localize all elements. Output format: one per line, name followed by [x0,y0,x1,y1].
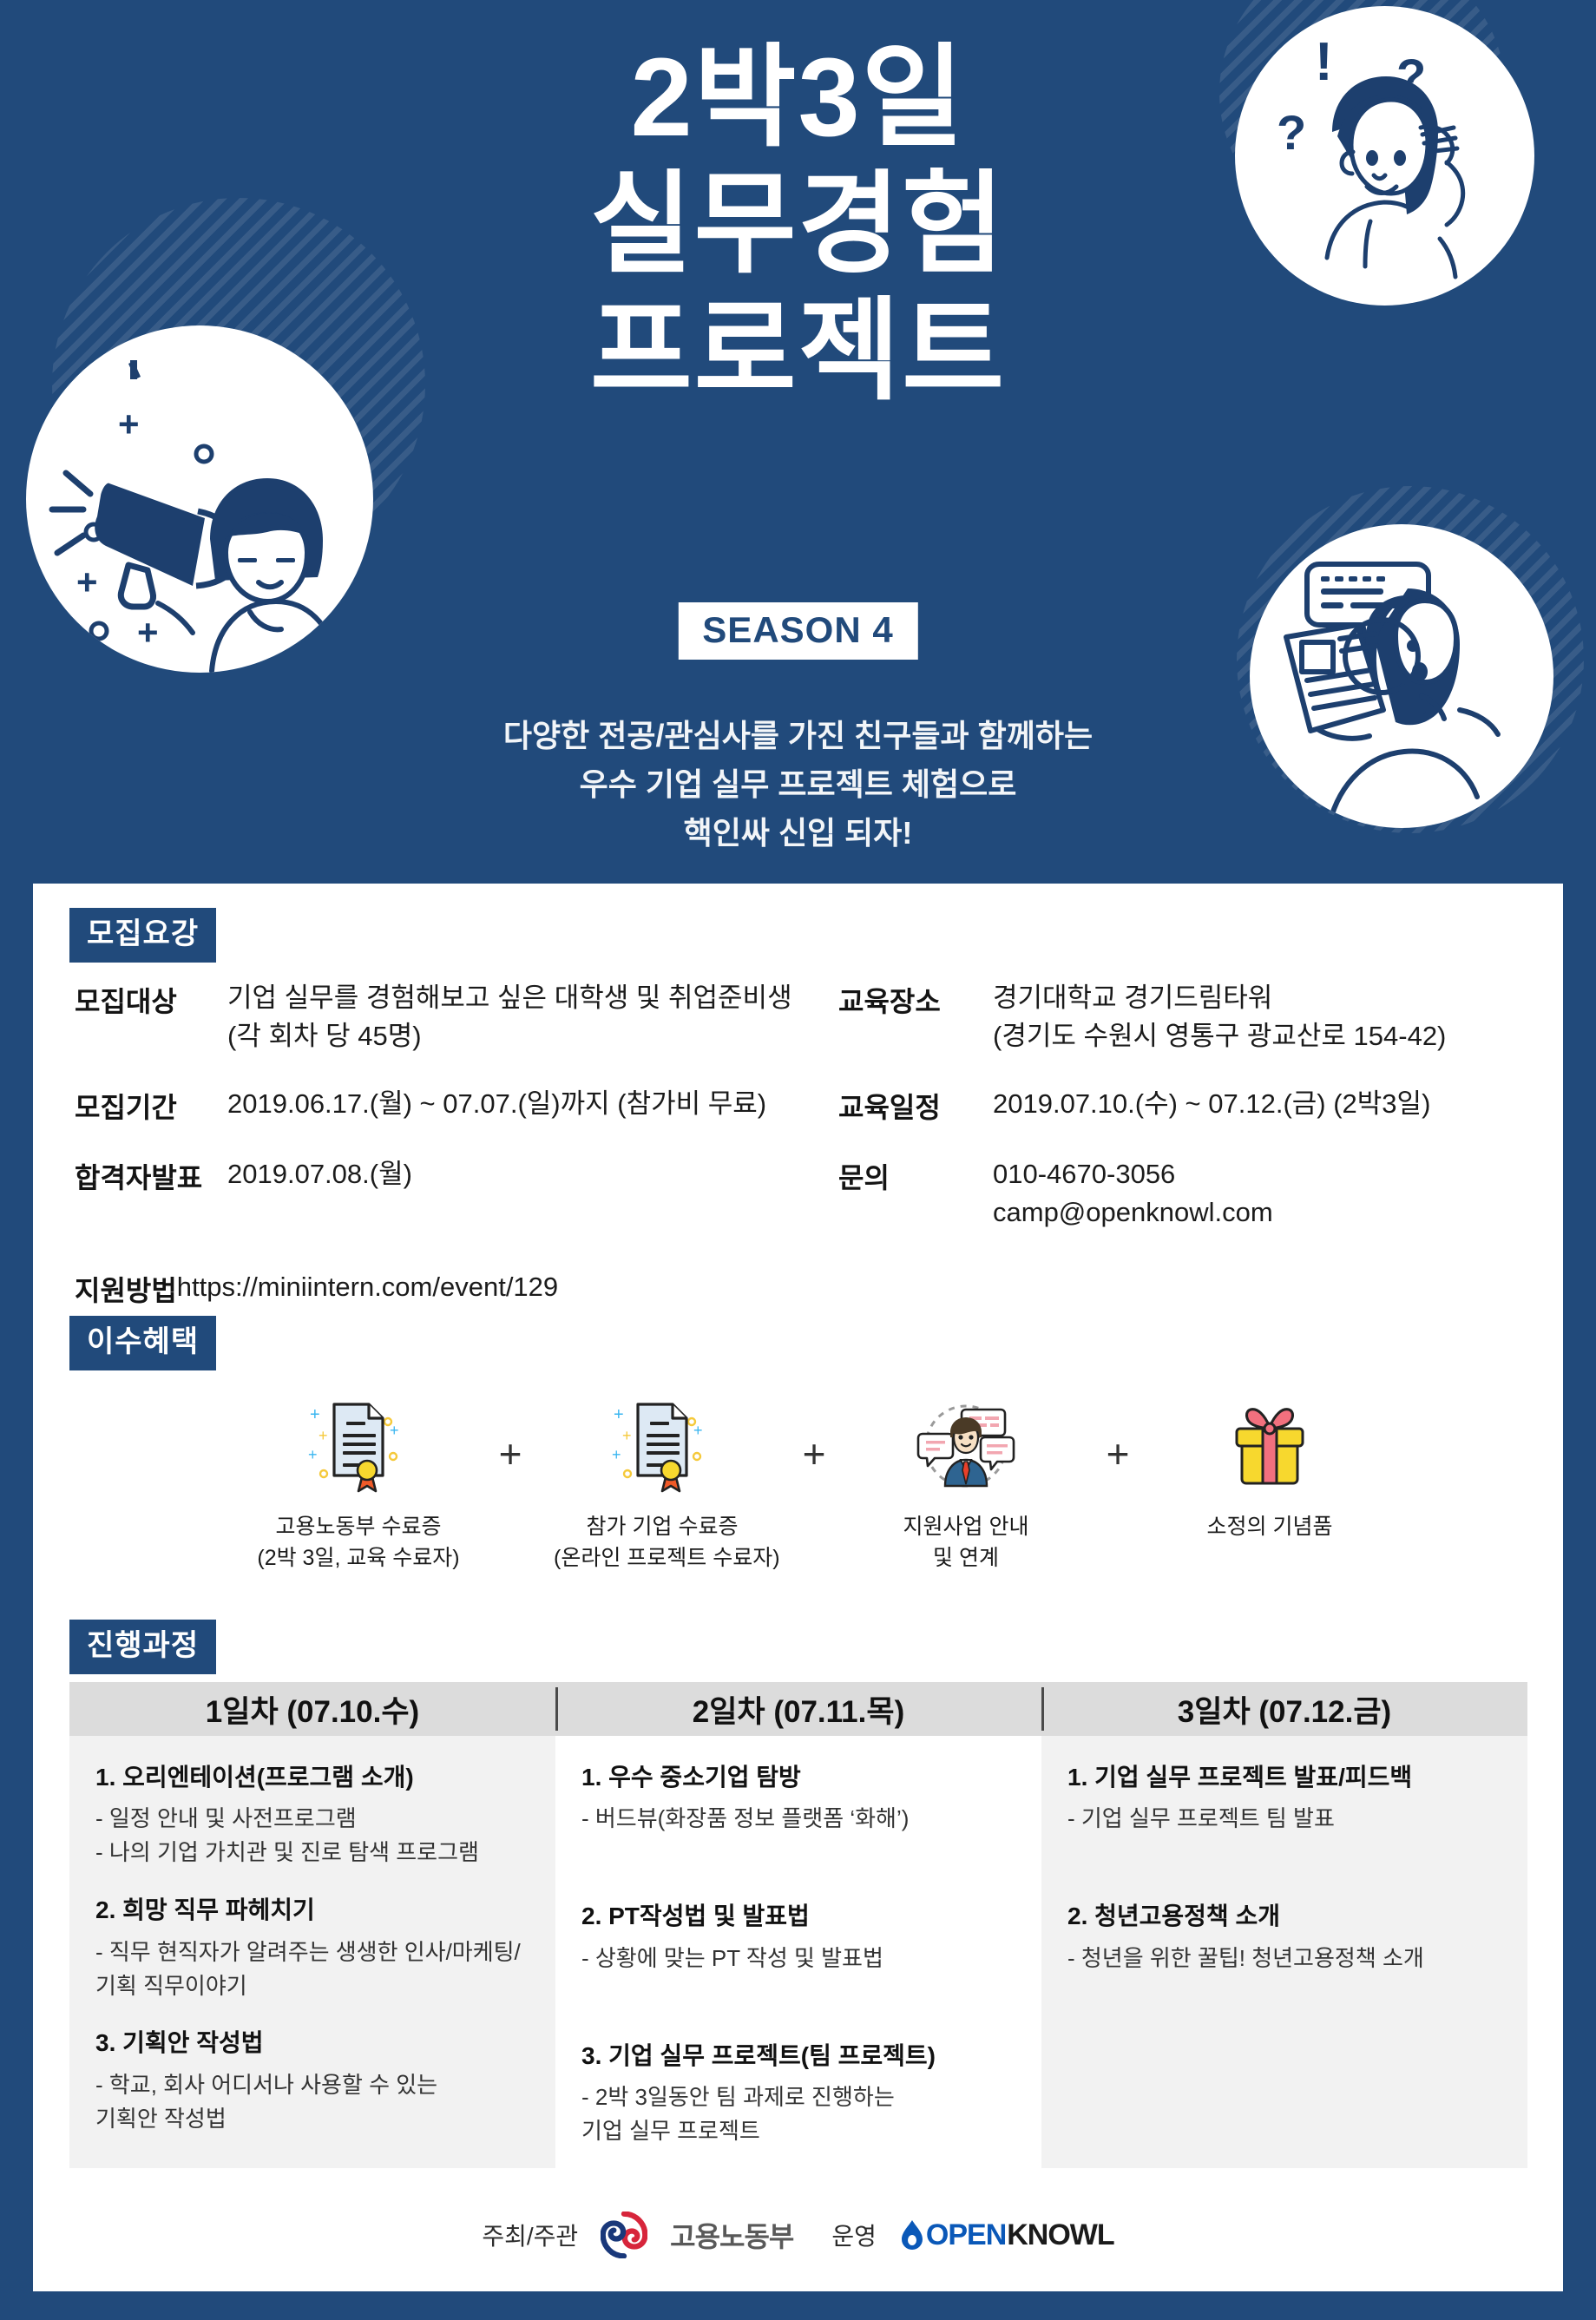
section-label-process: 진행과정 [69,1620,216,1674]
plus-separator: + [797,1394,831,1474]
process-table-header-row: 1일차 (07.10.수) 2일차 (07.11.목) 3일차 (07.12.금… [69,1682,1527,1736]
benefit-caption-line: 고용노동부 수료증 [250,1512,467,1543]
apply-url[interactable]: https://miniintern.com/event/129 [177,1268,558,1309]
process-table: 1일차 (07.10.수) 2일차 (07.11.목) 3일차 (07.12.금… [69,1682,1527,2168]
process-block-detail: - 2박 3일동안 팀 과제로 진행하는 [581,2081,1019,2113]
process-block: 2. 청년고용정책 소개 - 청년을 위한 꿀팁! 청년고용정책 소개 [1067,1901,1505,1974]
process-block: 2. PT작성법 및 발표법 - 상황에 맞는 PT 작성 및 발표법 [581,1901,1019,1974]
info-row-target: 모집대상 기업 실무를 경험해보고 싶은 대학생 및 취업준비생 (각 회차 당… [75,979,838,1055]
contact-phone: 010-4670-3056 [993,1155,1273,1193]
process-block-detail: - 학교, 회사 어디서나 사용할 수 있는 [95,2069,533,2101]
process-table-body: 1. 오리엔테이션(프로그램 소개) - 일정 안내 및 사전프로그램 - 나의… [69,1736,1527,2168]
footer-credits: 주최/주관 고용노동부 운영 OPEN KNOWL [33,2212,1563,2258]
info-value: 2019.07.08.(월) [227,1155,412,1196]
benefit-caption-line: (2박 3일, 교육 수료자) [250,1543,467,1574]
title-line-1: 2박3일 [0,35,1596,161]
section-label-benefit: 이수혜택 [69,1316,216,1370]
process-block-detail: - 직무 현직자가 알려주는 생생한 인사/마케팅/ [95,1936,533,1968]
benefit-caption: 소정의 기념품 [1161,1512,1378,1543]
info-value: 010-4670-3056 camp@openknowl.com [993,1155,1273,1232]
benefit-item: + + + + [250,1394,467,1574]
benefit-item: + + + + [554,1394,771,1574]
openknowl-drop-icon [899,2218,925,2251]
plus-separator: + [493,1394,528,1474]
subtitle-line-1: 다양한 전공/관심사를 가진 친구들과 함께하는 [0,712,1596,760]
process-block-title: 3. 기획안 작성법 [95,2028,533,2059]
process-block: 1. 우수 중소기업 탐방 - 버드뷰(화장품 정보 플랫폼 ‘화해’) [581,1762,1019,1835]
benefit-caption-line: 참가 기업 수료증 [554,1512,771,1543]
page-title: 2박3일 실무경험 프로젝트 [0,35,1596,415]
info-key: 지원방법 [75,1268,177,1309]
benefit-caption-line: 지원사업 안내 [857,1512,1074,1543]
process-block-detail: - 나의 기업 가치관 및 진로 탐색 프로그램 [95,1837,533,1869]
process-block-detail: - 청년을 위한 꿀팁! 청년고용정책 소개 [1067,1942,1505,1975]
content-card: 모집요강 모집대상 기업 실무를 경험해보고 싶은 대학생 및 취업준비생 (각… [33,884,1563,2291]
benefit-caption: 고용노동부 수료증 (2박 3일, 교육 수료자) [250,1512,467,1574]
svg-text:+: + [622,1427,632,1444]
info-value-line: 2019.06.17.(월) ~ 07.07.(일)까지 (참가비 무료) [227,1085,766,1123]
svg-text:+: + [308,1446,318,1463]
hero-section: 2박3일 실무경험 프로젝트 SEASON 4 다양한 전공/관심사를 가진 친… [0,0,1596,868]
info-value: 경기대학교 경기드림타워 (경기도 수원시 영통구 광교산로 154-42) [993,979,1446,1055]
info-key: 교육장소 [838,979,993,1055]
process-block-detail: 기획안 작성법 [95,2103,533,2135]
process-column-header-day1: 1일차 (07.10.수) [69,1682,555,1736]
process-block-title: 2. PT작성법 및 발표법 [581,1901,1019,1932]
info-value-line: 경기대학교 경기드림타워 [993,979,1446,1017]
process-block: 1. 오리엔테이션(프로그램 소개) - 일정 안내 및 사전프로그램 - 나의… [95,1762,533,1869]
hero-subtitle: 다양한 전공/관심사를 가진 친구들과 함께하는 우수 기업 실무 프로젝트 체… [0,712,1596,857]
title-line-2: 실무경험 [0,161,1596,288]
benefit-item: 지원사업 안내 및 연계 [857,1394,1074,1574]
process-block-detail: - 일정 안내 및 사전프로그램 [95,1803,533,1835]
info-value-line: (각 회차 당 45명) [227,1017,792,1055]
process-block-title: 1. 우수 중소기업 탐방 [581,1762,1019,1793]
recruit-info-right-column: 교육장소 경기대학교 경기드림타워 (경기도 수원시 영통구 광교산로 154-… [838,979,1533,1261]
host-label: 주최/주관 [482,2218,578,2252]
info-row-apply-method: 지원방법 https://miniintern.com/event/129 [75,1268,1533,1309]
benefit-caption: 지원사업 안내 및 연계 [857,1512,1074,1574]
info-row-contact: 문의 010-4670-3056 camp@openknowl.com [838,1155,1533,1232]
process-column-header-day2: 2일차 (07.11.목) [555,1682,1041,1736]
recruit-info: 모집대상 기업 실무를 경험해보고 싶은 대학생 및 취업준비생 (각 회차 당… [75,979,1533,1338]
info-key: 교육일정 [838,1085,993,1126]
info-value-line: (경기도 수원시 영통구 광교산로 154-42) [993,1017,1446,1055]
svg-text:+: + [614,1405,624,1424]
process-column-day1: 1. 오리엔테이션(프로그램 소개) - 일정 안내 및 사전프로그램 - 나의… [69,1736,555,2168]
info-key: 합격자발표 [75,1155,227,1196]
process-block-title: 1. 오리엔테이션(프로그램 소개) [95,1762,533,1793]
info-value: 2019.06.17.(월) ~ 07.07.(일)까지 (참가비 무료) [227,1085,766,1126]
svg-text:+: + [310,1405,320,1424]
certificate-icon: + + + + [554,1394,771,1498]
season-badge: SEASON 4 [678,602,917,660]
plus-separator: + [1100,1394,1135,1474]
info-value: 2019.07.10.(수) ~ 07.12.(금) (2박3일) [993,1085,1430,1126]
subtitle-line-3: 핵인싸 신입 되자! [0,809,1596,858]
gift-box-icon [1161,1394,1378,1498]
info-value-line: 2019.07.10.(수) ~ 07.12.(금) (2박3일) [993,1085,1430,1123]
host-name: 고용노동부 [670,2215,793,2255]
consulting-person-icon [857,1394,1074,1498]
process-block-title: 1. 기업 실무 프로젝트 발표/피드백 [1067,1762,1505,1793]
subtitle-line-2: 우수 기업 실무 프로젝트 체험으로 [0,760,1596,809]
process-column-day2: 1. 우수 중소기업 탐방 - 버드뷰(화장품 정보 플랫폼 ‘화해’) 2. … [555,1736,1041,2168]
process-block-detail: - 기업 실무 프로젝트 팀 발표 [1067,1803,1505,1835]
info-row-schedule: 교육일정 2019.07.10.(수) ~ 07.12.(금) (2박3일) [838,1085,1533,1126]
info-value: 기업 실무를 경험해보고 싶은 대학생 및 취업준비생 (각 회차 당 45명) [227,979,792,1055]
process-block-detail: - 버드뷰(화장품 정보 플랫폼 ‘화해’) [581,1803,1019,1835]
process-block-detail: - 상황에 맞는 PT 작성 및 발표법 [581,1942,1019,1975]
openknowl-logo: OPEN KNOWL [899,2218,1114,2252]
benefit-caption-line: 및 연계 [857,1543,1074,1574]
process-block: 2. 희망 직무 파헤치기 - 직무 현직자가 알려주는 생생한 인사/마케팅/… [95,1895,533,2001]
process-block: 1. 기업 실무 프로젝트 발표/피드백 - 기업 실무 프로젝트 팀 발표 [1067,1762,1505,1835]
process-block-title: 2. 희망 직무 파헤치기 [95,1895,533,1926]
process-block: 3. 기업 실무 프로젝트(팀 프로젝트) - 2박 3일동안 팀 과제로 진행… [581,2041,1019,2147]
info-key: 모집기간 [75,1085,227,1126]
benefit-caption-line: (온라인 프로젝트 수료자) [554,1543,771,1574]
benefits-row: + + + + [250,1394,1378,1574]
process-block: 3. 기획안 작성법 - 학교, 회사 어디서나 사용할 수 있는 기획안 작성… [95,2028,533,2134]
info-row-venue: 교육장소 경기대학교 경기드림타워 (경기도 수원시 영통구 광교산로 154-… [838,979,1533,1055]
title-line-3: 프로젝트 [0,288,1596,415]
info-key: 모집대상 [75,979,227,1055]
info-row-period: 모집기간 2019.06.17.(월) ~ 07.07.(일)까지 (참가비 무… [75,1085,838,1126]
benefit-caption-line: 소정의 기념품 [1161,1512,1378,1543]
process-column-header-day3: 3일차 (07.12.금) [1041,1682,1527,1736]
info-row-announcement: 합격자발표 2019.07.08.(월) [75,1155,838,1196]
info-value-line: 2019.07.08.(월) [227,1155,412,1193]
info-value-line: 기업 실무를 경험해보고 싶은 대학생 및 취업준비생 [227,979,792,1017]
operator-label: 운영 [831,2218,877,2252]
process-block-title: 3. 기업 실무 프로젝트(팀 프로젝트) [581,2041,1019,2072]
section-label-recruit: 모집요강 [69,908,216,963]
process-block-title: 2. 청년고용정책 소개 [1067,1901,1505,1932]
process-block-detail: 기획 직무이야기 [95,1970,533,2002]
process-block-detail: 기업 실무 프로젝트 [581,2115,1019,2147]
openknowl-knowl-text: KNOWL [1007,2218,1113,2252]
recruit-info-left-column: 모집대상 기업 실무를 경험해보고 싶은 대학생 및 취업준비생 (각 회차 당… [75,979,838,1261]
benefit-caption: 참가 기업 수료증 (온라인 프로젝트 수료자) [554,1512,771,1574]
benefit-item: 소정의 기념품 [1161,1394,1378,1543]
openknowl-open-text: OPEN [926,2218,1006,2252]
contact-email: camp@openknowl.com [993,1193,1273,1232]
process-column-day3: 1. 기업 실무 프로젝트 발표/피드백 - 기업 실무 프로젝트 팀 발표 2… [1041,1736,1527,2168]
info-key: 문의 [838,1155,993,1232]
certificate-icon: + + + + [250,1394,467,1498]
poster-root: ! ? ? [0,0,1596,2320]
svg-text:+: + [612,1446,621,1463]
korea-government-taegeuk-icon [601,2212,647,2258]
svg-text:+: + [319,1427,328,1444]
